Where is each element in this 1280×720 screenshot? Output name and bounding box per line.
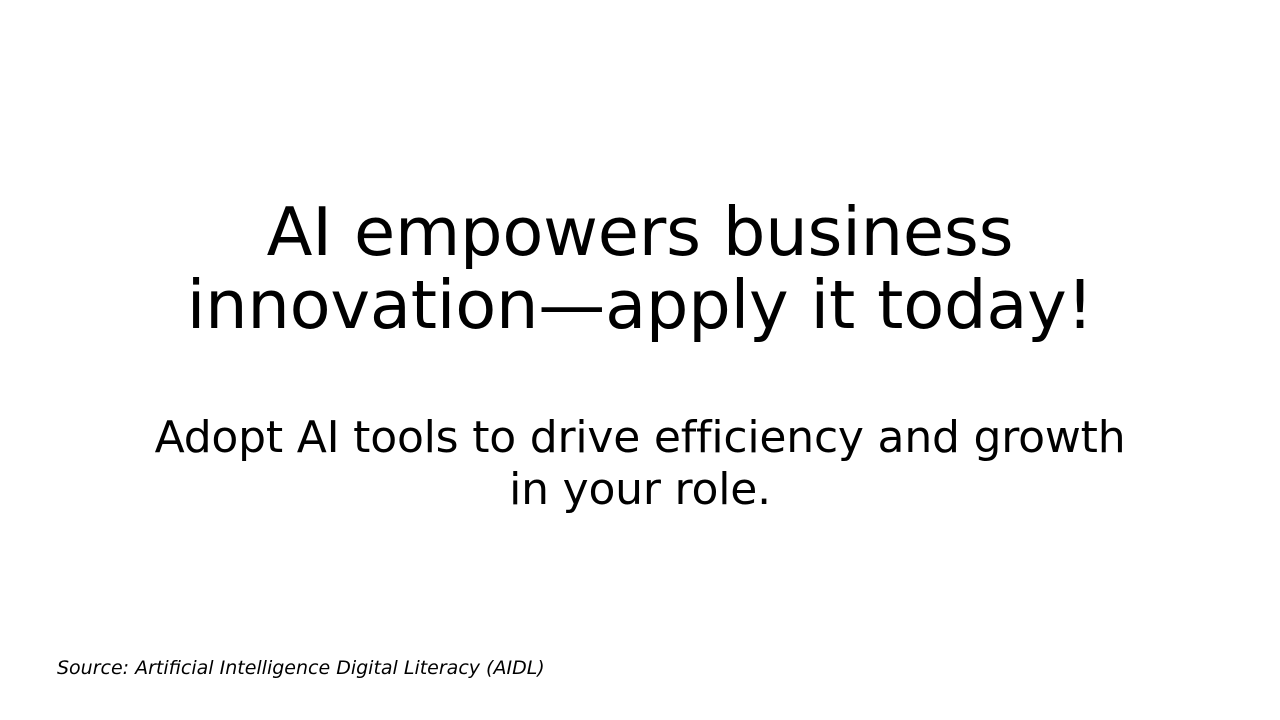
page-title: AI empowers business innovation—apply it… <box>140 196 1140 342</box>
presentation-slide: AI empowers business innovation—apply it… <box>0 0 1280 720</box>
source-container: Source: Artificial Intelligence Digital … <box>57 655 757 681</box>
title-container: AI empowers business innovation—apply it… <box>140 196 1140 342</box>
source-attribution: Source: Artificial Intelligence Digital … <box>57 655 757 681</box>
slide-subtitle: Adopt AI tools to drive efficiency and g… <box>140 412 1140 516</box>
subtitle-container: Adopt AI tools to drive efficiency and g… <box>140 412 1140 516</box>
